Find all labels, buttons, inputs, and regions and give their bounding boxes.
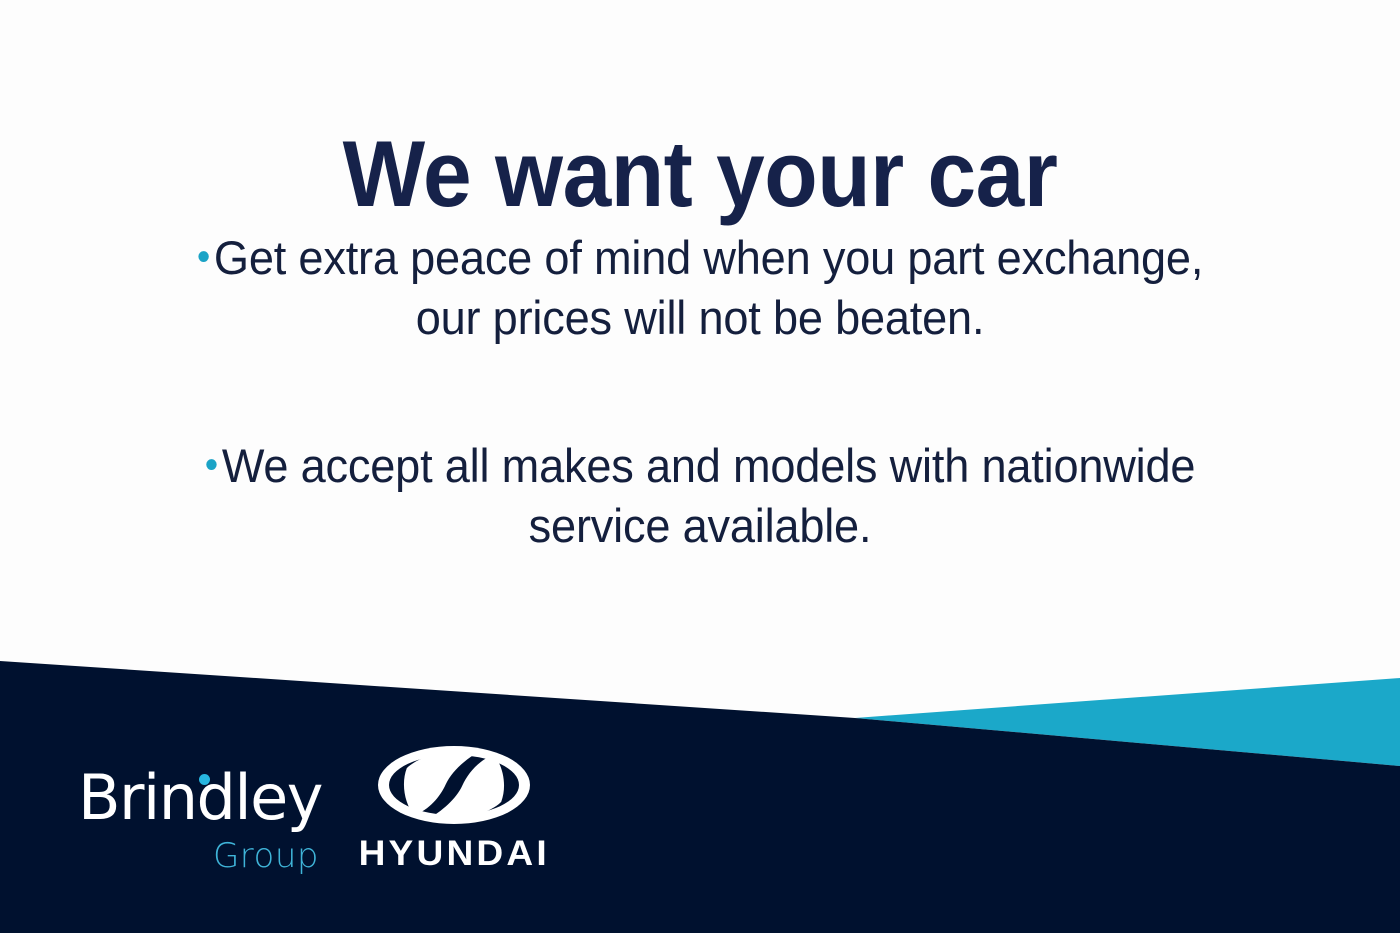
bullet-dot-icon: • [197,235,210,279]
bullet-dot-icon: • [205,443,218,487]
teal-wedge-shape [855,678,1400,766]
page-title: We want your car [49,125,1351,224]
list-item: •We accept all makes and models with nat… [191,436,1209,556]
list-item-text: We accept all makes and models with nati… [222,439,1195,552]
hyundai-oval-h-emblem [374,743,534,827]
brindley-subtitle: Group [213,839,319,873]
promo-slide: We want your car •Get extra peace of min… [0,0,1400,933]
hyundai-wordmark: HYUNDAI [359,836,550,871]
hyundai-logo: HYUNDAI [364,743,544,873]
brindley-group-logo: Brindley Group [78,767,322,873]
logo-row: Brindley Group [78,743,544,873]
brindley-i-dot-icon [199,774,210,785]
list-item: •Get extra peace of mind when you part e… [191,228,1209,348]
bullet-list: •Get extra peace of mind when you part e… [191,228,1209,557]
list-item-text: Get extra peace of mind when you part ex… [214,231,1203,344]
